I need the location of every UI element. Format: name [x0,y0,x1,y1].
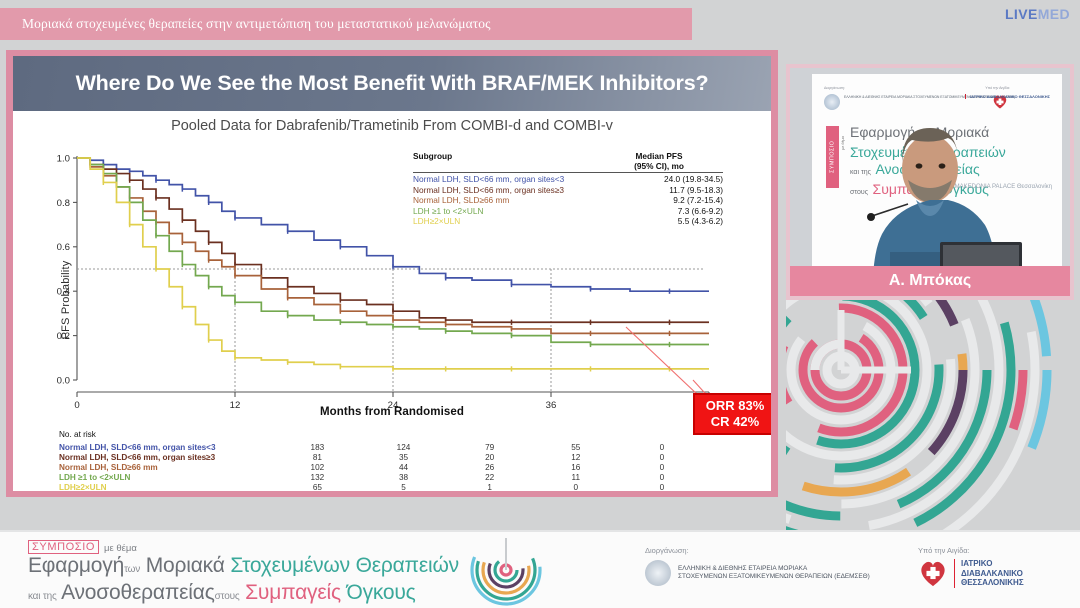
risk-row-value: 5 [360,483,446,491]
risk-row-value: 12 [533,452,619,462]
legend-series-name: LDH≥2×ULN [413,216,595,227]
presentation-title-band: Μοριακά στοχευμένες θεραπείες στην αντιμ… [0,8,692,40]
legend-row: Normal LDH, SLD≥66 mm9.2 (7.2-15.4) [413,195,723,206]
chart-legend: Subgroup Median PFS (95% CI), mo Normal … [413,151,723,227]
organizer-line-2: ΣΤΟΧΕΥΜΕΝΩΝ ΕΞΑΤΟΜΙΚΕΥΜΕΝΩΝ ΘΕΡΑΠΕΙΩΝ (Ε… [678,573,870,581]
event-title-part-3: Μοριακά [146,554,225,577]
risk-row-value: 65 [274,483,360,491]
risk-row-value: 22 [447,473,533,483]
event-title-part-10: Όγκους [347,581,416,604]
slide-title-bar: Where Do We See the Most Benefit With BR… [13,56,771,111]
presentation-title: Μοριακά στοχευμένες θεραπείες στην αντιμ… [0,16,491,32]
legend-median-pfs: 7.3 (6.6-9.2) [595,206,723,217]
km-plot: PFS Probability 0.00.20.40.60.81.0012243… [13,144,771,434]
event-title-part-9: Συμπαγείς [245,581,341,604]
risk-row-value: 20 [447,452,533,462]
organizer-block: Διοργάνωση: ΕΛΛΗΝΙΚΗ & ΔΙΕΘΝΗΣ ΕΤΑΙΡΕΙΑ … [645,546,870,586]
cr-value: CR 42% [711,414,759,430]
risk-row-value: 0 [533,483,619,491]
risk-row-value: 38 [360,473,446,483]
risk-row-value: 55 [533,442,619,452]
legend-header-subgroup: Subgroup [413,151,595,171]
y-tick-label: 0.8 [57,198,70,209]
y-tick-label: 0.0 [57,375,70,386]
risk-row-value: 35 [360,452,446,462]
risk-row-label: LDH ≥1 to <2×ULN [59,473,274,483]
risk-row-value: 0 [619,473,705,483]
risk-table-row: Normal LDH, SLD<66 mm, organ sites≥38135… [59,452,705,462]
y-tick-label: 0.2 [57,331,70,342]
risk-row-value: 124 [360,442,446,452]
symposium-badge: ΣΥΜΠΟΣΙΟ [28,540,99,554]
event-title-part-7: Ανοσοθεραπείας [61,581,215,604]
aegis-caption: Υπό την Αιγίδα: [918,546,1024,555]
speaker-name: Α. Μπόκας [889,272,971,290]
risk-row-value: 132 [274,473,360,483]
orr-value: ORR 83% [706,398,765,414]
organizer-line-1: ΕΛΛΗΝΙΚΗ & ΔΙΕΘΝΗΣ ΕΤΑΙΡΕΙΑ ΜΟΡΙΑΚΑ [678,565,870,573]
event-branding: ΣΥΜΠΟΣΙΟ με θέμα Εφαρμογήτων Μοριακά Στο… [28,540,459,608]
risk-row-value: 1 [447,483,533,491]
risk-table-row: LDH ≥1 to <2×ULN1323822110 [59,473,705,483]
legend-median-pfs: 9.2 (7.2-15.4) [595,195,723,206]
hospital-heart-icon [918,559,948,587]
legend-median-pfs: 5.5 (4.3-6.2) [595,216,723,227]
legend-rows: Normal LDH, SLD<66 mm, organ sites<324.0… [413,174,723,227]
legend-series-name: Normal LDH, SLD<66 mm, organ sites<3 [413,174,595,185]
slide-title: Where Do We See the Most Benefit With BR… [76,71,709,96]
risk-row-value: 102 [274,462,360,472]
risk-table-caption: No. at risk [59,430,96,439]
orr-cr-callout: ORR 83% CR 42% [693,393,771,435]
event-title-part-5: Θεραπειών [356,554,459,577]
risk-table-row: LDH≥2×ULN655100 [59,483,705,491]
projected-slide: Διοργάνωση: ΕΛΛΗΝΙΚΗ & ΔΙΕΘΝΗΣ ΕΤΑΙΡΕΙΑ … [812,74,1062,279]
risk-table-row: Normal LDH, SLD≥66 mm1024426160 [59,462,705,472]
symposium-subtitle: με θέμα [104,543,137,554]
x-axis-label: Months from Randomised [13,406,771,418]
y-tick-label: 0.4 [57,287,71,298]
risk-table: Normal LDH, SLD<66 mm, organ sites<31831… [59,442,705,491]
risk-row-value: 11 [533,473,619,483]
legend-header-median-2: (95% CI), mo [595,161,723,171]
event-title-part-6: και της [28,591,57,602]
aegis-line-2: ΔΙΑΒΑΛΚΑΝΙΚΟ [961,569,1024,579]
laptop-icon [812,74,1062,279]
speaker-name-bar: Α. Μπόκας [790,266,1070,296]
event-title-part-8: στους [215,591,240,602]
risk-row-label: Normal LDH, SLD<66 mm, organ sites<3 [59,442,274,452]
organizer-logo-icon [645,560,671,586]
risk-row-label: Normal LDH, SLD<66 mm, organ sites≥3 [59,452,274,462]
organizer-caption: Διοργάνωση: [645,546,870,555]
risk-row-value: 0 [619,462,705,472]
aegis-line-1: ΙΑΤΡΙΚΟ [961,559,1024,569]
slide-subtitle: Pooled Data for Dabrafenib/Trametinib Fr… [13,118,771,134]
speaker-video-panel[interactable]: Διοργάνωση: ΕΛΛΗΝΙΚΗ & ΔΙΕΘΝΗΣ ΕΤΑΙΡΕΙΑ … [786,64,1074,300]
maze-decoration [786,300,1080,530]
risk-table-row: Normal LDH, SLD<66 mm, organ sites<31831… [59,442,705,452]
y-tick-label: 0.6 [57,242,70,253]
callout-pointer [626,327,699,396]
risk-row-value: 81 [274,452,360,462]
video-frame[interactable]: Διοργάνωση: ΕΛΛΗΝΙΚΗ & ΔΙΕΘΝΗΣ ΕΤΑΙΡΕΙΑ … [790,68,1070,296]
legend-series-name: LDH ≥1 to <2×ULN [413,206,595,217]
legend-header-median-1: Median PFS [595,151,723,161]
risk-row-label: Normal LDH, SLD≥66 mm [59,462,274,472]
legend-row: LDH≥2×ULN5.5 (4.3-6.2) [413,216,723,227]
slide-content: Where Do We See the Most Benefit With BR… [13,56,771,491]
legend-rule [413,172,723,173]
top-bar: Μοριακά στοχευμένες θεραπείες στην αντιμ… [0,0,1080,46]
maze-logo-icon [470,534,542,606]
risk-row-value: 16 [533,462,619,472]
risk-row-value: 79 [447,442,533,452]
legend-row: LDH ≥1 to <2×ULN7.3 (6.6-9.2) [413,206,723,217]
legend-series-name: Normal LDH, SLD<66 mm, organ sites≥3 [413,185,595,196]
y-tick-label: 1.0 [57,153,70,164]
legend-median-pfs: 11.7 (9.5-18.3) [595,185,723,196]
risk-row-value: 183 [274,442,360,452]
event-title-part-2: των [124,564,140,575]
legend-median-pfs: 24.0 (19.8-34.5) [595,174,723,185]
aegis-block: Υπό την Αιγίδα: ΙΑΤΡΙΚΟ ΔΙΑΒΑΛΚΑΝΙΚΟ ΘΕΣ… [918,546,1024,588]
aegis-line-3: ΘΕΣΣΑΛΟΝΙΚΗΣ [961,578,1024,588]
livemed-logo-live: LIVE [1005,6,1038,22]
bottom-banner: ΣΥΜΠΟΣΙΟ με θέμα Εφαρμογήτων Μοριακά Στο… [0,530,1080,608]
maze-icon [786,300,1080,530]
risk-row-value: 26 [447,462,533,472]
event-title-part-1: Εφαρμογή [28,554,124,577]
risk-row-value: 0 [619,483,705,491]
risk-row-value: 0 [619,452,705,462]
risk-row-value: 44 [360,462,446,472]
livemed-logo: LIVEMED [1005,6,1070,22]
event-title-part-4: Στοχευμένων [230,554,350,577]
slide-frame[interactable]: Where Do We See the Most Benefit With BR… [6,50,778,497]
risk-row-label: LDH≥2×ULN [59,483,274,491]
legend-series-name: Normal LDH, SLD≥66 mm [413,195,595,206]
legend-row: Normal LDH, SLD<66 mm, organ sites<324.0… [413,174,723,185]
livemed-logo-med: MED [1038,6,1070,22]
risk-row-value: 0 [619,442,705,452]
legend-row: Normal LDH, SLD<66 mm, organ sites≥311.7… [413,185,723,196]
